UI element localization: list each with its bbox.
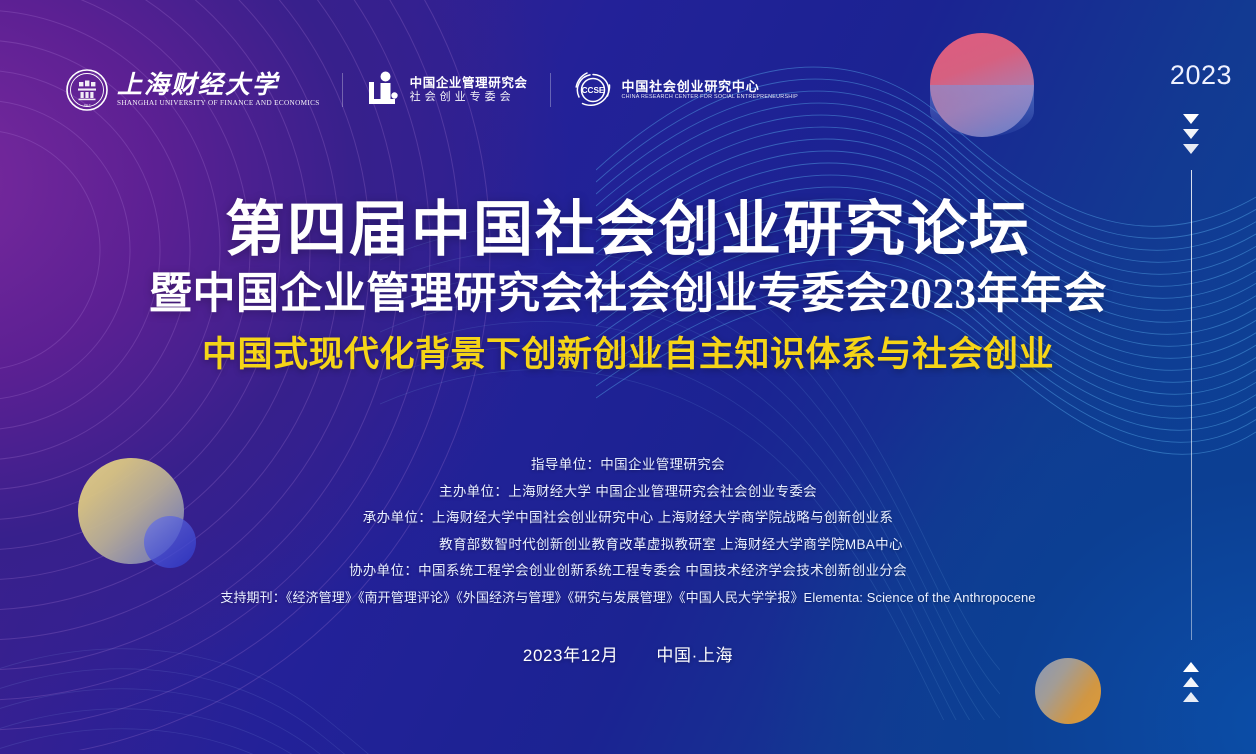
- event-date: 2023年12月: [523, 641, 619, 666]
- logo-divider: [342, 73, 343, 107]
- conference-theme: 中国式现代化背景下创新创业自主知识体系与社会创业: [0, 336, 1256, 375]
- organizer-line-organizer: 承办单位：上海财经大学中国社会创业研究中心 上海财经大学商学院战略与创新创业系: [0, 511, 1256, 525]
- logo-cema-line1: 中国企业管理研究会: [410, 77, 528, 90]
- logo-divider: [550, 73, 551, 107]
- organizer-block: 指导单位：中国企业管理研究会 主办单位：上海财经大学 中国企业管理研究会社会创业…: [0, 458, 1256, 604]
- triangle-up-group: [1183, 662, 1199, 702]
- footer: 2023年12月 中国·上海: [0, 641, 1256, 666]
- chevron-up-icon: [1183, 692, 1199, 702]
- year-badge: 2023: [1170, 60, 1232, 91]
- page-title: 第四届中国社会创业研究论坛: [0, 198, 1256, 263]
- organizer-line-guidance: 指导单位：中国企业管理研究会: [0, 458, 1256, 472]
- ccse-circles-icon: CCSE: [573, 70, 613, 110]
- chevron-up-icon: [1183, 677, 1199, 687]
- logo-cema: 中国企业管理研究会 社会创业专委会: [365, 70, 528, 110]
- organizer-line-coorganizer: 协办单位：中国系统工程学会创业创新系统工程专委会 中国技术经济学会技术创新创业分…: [0, 564, 1256, 578]
- university-seal-icon: 1917: [66, 69, 108, 111]
- event-location: 中国·上海: [656, 641, 733, 666]
- triangle-down-group: [1183, 114, 1199, 154]
- conference-poster: 2023: [0, 0, 1256, 754]
- logo-ccse-cn: 中国社会创业研究中心: [622, 80, 799, 93]
- title-block: 第四届中国社会创业研究论坛 暨中国企业管理研究会社会创业专委会2023年年会 中…: [0, 198, 1256, 374]
- svg-text:CCSE: CCSE: [581, 86, 604, 95]
- chevron-down-icon: [1183, 129, 1199, 139]
- page-subtitle: 暨中国企业管理研究会社会创业专委会2023年年会: [0, 271, 1256, 319]
- organizer-line-journals: 支持期刊：《经济管理》《南开管理评论》《外国经济与管理》《研究与发展管理》《中国…: [0, 591, 1256, 604]
- chevron-down-icon: [1183, 114, 1199, 124]
- person-podium-icon: [365, 70, 401, 110]
- decorative-sphere-orange: [1035, 658, 1101, 724]
- logo-ccse-en: CHINA RESEARCH CENTER FOR SOCIAL ENTREPR…: [622, 95, 799, 100]
- decorative-sphere-pink-veil: [930, 85, 1034, 137]
- chevron-down-icon: [1183, 144, 1199, 154]
- logo-sufe-en: SHANGHAI UNIVERSITY OF FINANCE AND ECONO…: [117, 99, 320, 107]
- svg-text:1917: 1917: [84, 103, 91, 107]
- logo-sufe-cn: 上海财经大学: [117, 73, 320, 98]
- logo-bar: 1917 上海财经大学 SHANGHAI UNIVERSITY OF FINAN…: [66, 63, 798, 117]
- logo-ccse: CCSE 中国社会创业研究中心 CHINA RESEARCH CENTER FO…: [573, 70, 799, 110]
- organizer-line-organizer-cont: 教育部数智时代创新创业教育改革虚拟教研室 上海财经大学商学院MBA中心: [0, 538, 1256, 552]
- logo-sufe: 1917 上海财经大学 SHANGHAI UNIVERSITY OF FINAN…: [66, 69, 320, 111]
- logo-cema-line2: 社会创业专委会: [410, 92, 528, 103]
- organizer-line-host: 主办单位：上海财经大学 中国企业管理研究会社会创业专委会: [0, 485, 1256, 499]
